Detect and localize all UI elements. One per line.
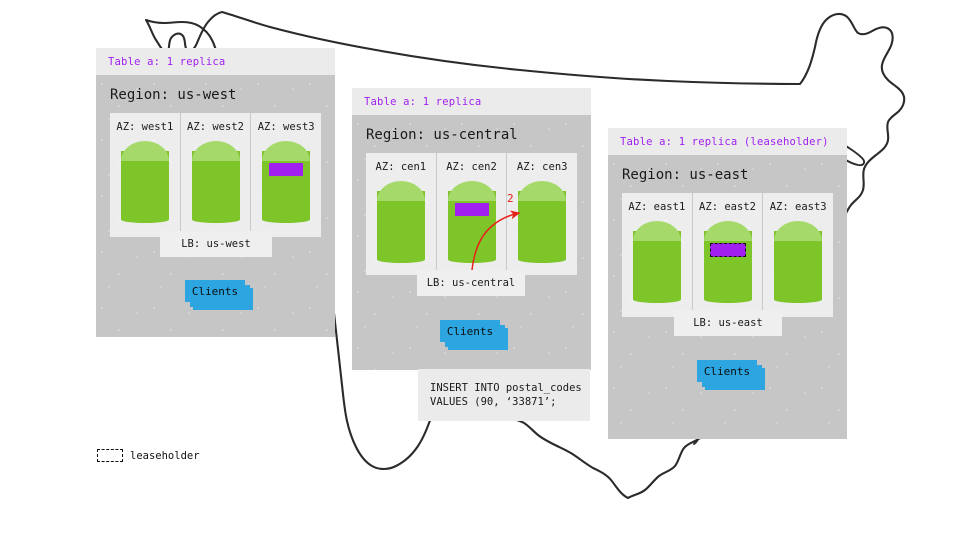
clients-button-face[interactable]: Clients <box>440 320 500 342</box>
clients-us-west[interactable]: Clients <box>185 280 257 314</box>
lb-label: LB: us-west <box>181 238 251 250</box>
load-balancer-us-east[interactable]: LB: us-east <box>674 310 782 336</box>
legend-leaseholder: leaseholder <box>97 449 200 462</box>
clients-us-central[interactable]: Clients <box>440 320 512 354</box>
clients-us-east[interactable]: Clients <box>697 360 769 394</box>
clients-button-face[interactable]: Clients <box>697 360 757 382</box>
load-balancer-us-west[interactable]: LB: us-west <box>160 231 272 257</box>
dashed-rectangle-icon <box>97 449 123 462</box>
legend-label: leaseholder <box>130 450 200 462</box>
clients-button-face[interactable]: Clients <box>185 280 245 302</box>
lb-label: LB: us-east <box>693 317 763 329</box>
diagram-canvas: Table a: 1 replica Region: us-west AZ: w… <box>0 0 960 540</box>
clients-label: Clients <box>192 285 238 298</box>
clients-label: Clients <box>447 325 493 338</box>
arrow-step-label-2: 2 <box>507 192 514 205</box>
clients-label: Clients <box>704 365 750 378</box>
step-number: 2 <box>507 192 514 205</box>
lb-label: LB: us-central <box>427 277 516 289</box>
load-balancer-us-central[interactable]: LB: us-central <box>417 270 525 296</box>
